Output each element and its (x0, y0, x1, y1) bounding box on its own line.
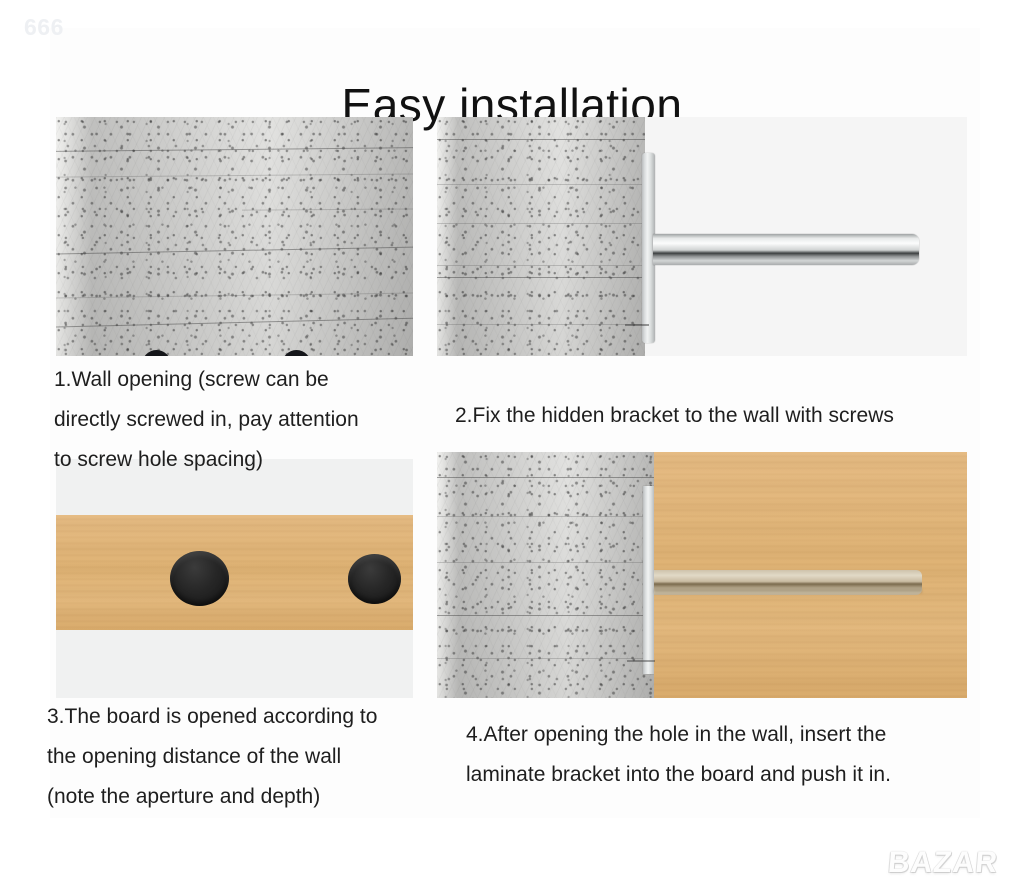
watermark-666: 666 (24, 14, 64, 41)
brick-course-line (437, 277, 645, 278)
brick-course-line (437, 615, 654, 616)
watermark-bazar: BAZAR (887, 846, 1000, 880)
step-3-caption: 3.The board is opened according to the o… (47, 697, 437, 817)
step-4-caption: 4.After opening the hole in the wall, in… (466, 715, 976, 795)
brick-course-line (437, 223, 645, 224)
product-instruction-image: 666 Easy installation (0, 0, 1024, 894)
brick-course-line (437, 516, 654, 517)
step-1-caption: 1.Wall opening (screw can be directly sc… (54, 360, 434, 480)
board-hole-left (170, 551, 229, 606)
step-4-image (437, 452, 967, 698)
brick-course-line (437, 324, 645, 325)
concrete-wall-texture (437, 452, 654, 698)
bracket-rod (653, 234, 919, 265)
brick-course-line (437, 139, 645, 140)
brick-course-line (437, 184, 645, 185)
concrete-wall-texture (56, 117, 413, 356)
step-1-image (56, 117, 413, 356)
step-3-image (56, 459, 413, 698)
step-2-caption: 2.Fix the hidden bracket to the wall wit… (455, 396, 975, 436)
brick-course-line (437, 562, 654, 563)
brick-course-line (437, 658, 654, 659)
concrete-wall-texture (437, 117, 645, 356)
step-2-image (437, 117, 967, 356)
inserted-bracket-rod-shadow (654, 589, 922, 593)
bracket-screw-mark (627, 660, 655, 662)
board-hole-right (348, 554, 401, 604)
bracket-screw-mark (625, 324, 649, 326)
brick-course-line (437, 265, 645, 266)
brick-course-line (437, 477, 654, 478)
